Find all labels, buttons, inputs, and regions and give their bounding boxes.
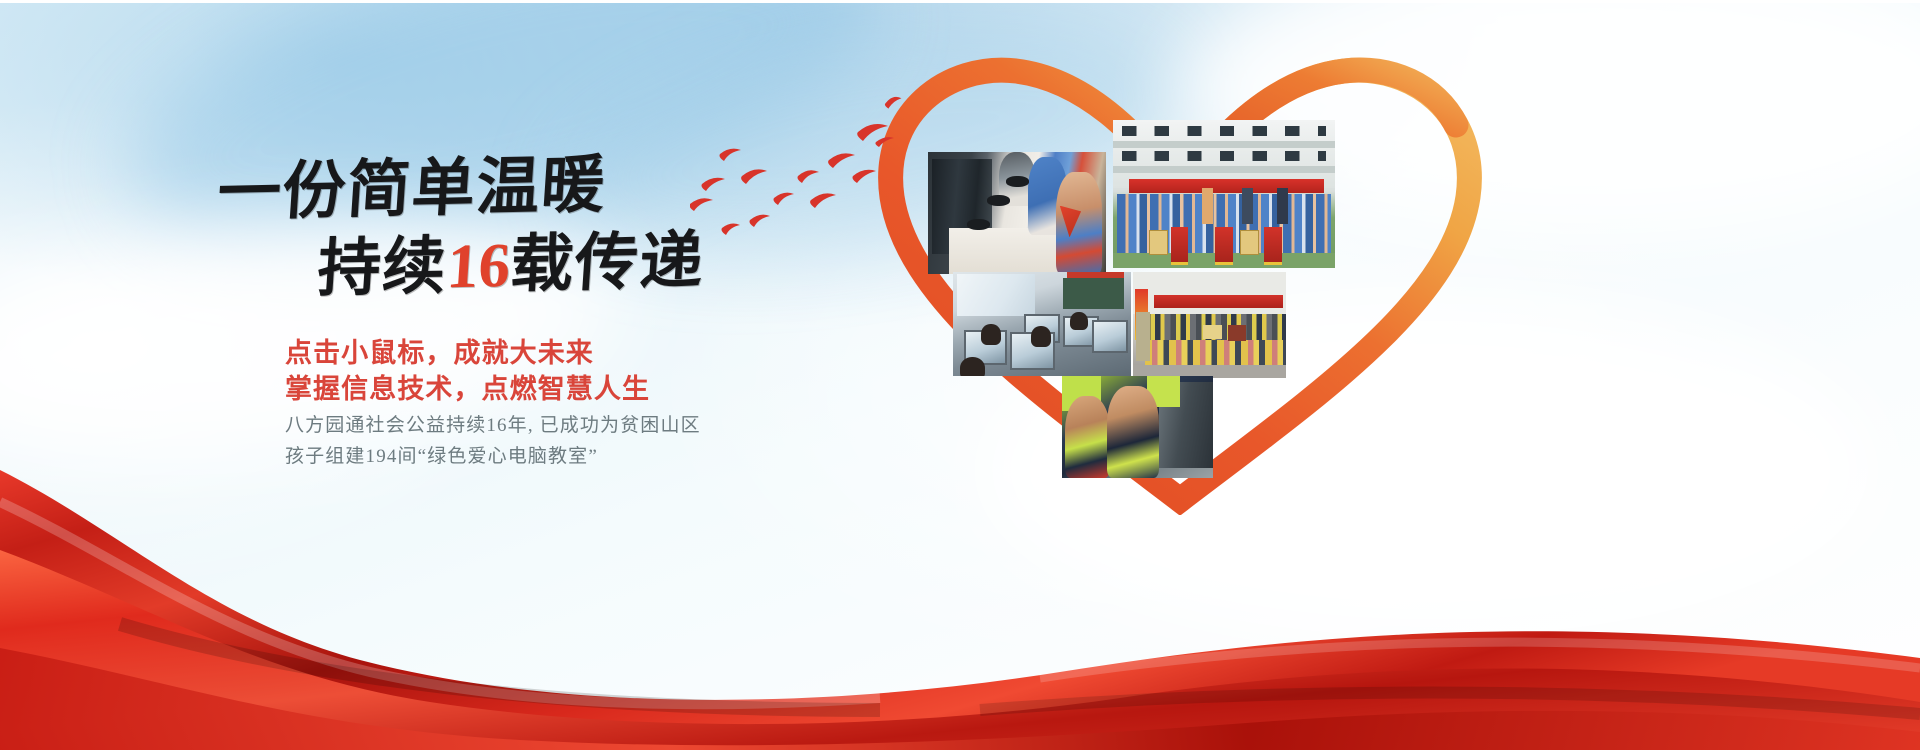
headline-line-2: 持续16载传递: [316, 230, 707, 301]
description-line-2: 孩子组建194间“绿色爱心电脑教室”: [285, 441, 598, 468]
photo-school-group: [1113, 120, 1335, 268]
banner-stage: 一份简单温暖 持续16载传递 点击小鼠标，成就大未来 掌握信息技术，点燃智慧人生…: [0, 0, 1920, 750]
photo-donation-ceremony: [1133, 272, 1286, 378]
photo-two-boys-computer: [1062, 376, 1213, 478]
subtitle-line-1: 点击小鼠标，成就大未来: [285, 331, 594, 370]
copy-block: 一份简单温暖 持续16载传递 点击小鼠标，成就大未来 掌握信息技术，点燃智慧人生…: [0, 0, 840, 600]
headline-line-2-prefix: 持续: [315, 231, 449, 304]
headline-years-number: 16: [445, 230, 513, 301]
photo-classroom-row: [953, 272, 1131, 376]
description-line-1: 八方园通社会公益持续16年, 已成功为贫困山区: [285, 410, 701, 437]
subtitle-line-2: 掌握信息技术，点燃智慧人生: [285, 367, 650, 406]
headline-line-1: 一份简单温暖: [216, 154, 608, 225]
photo-kids-computers: [928, 152, 1106, 274]
headline-line-2-suffix: 载传递: [508, 226, 707, 300]
